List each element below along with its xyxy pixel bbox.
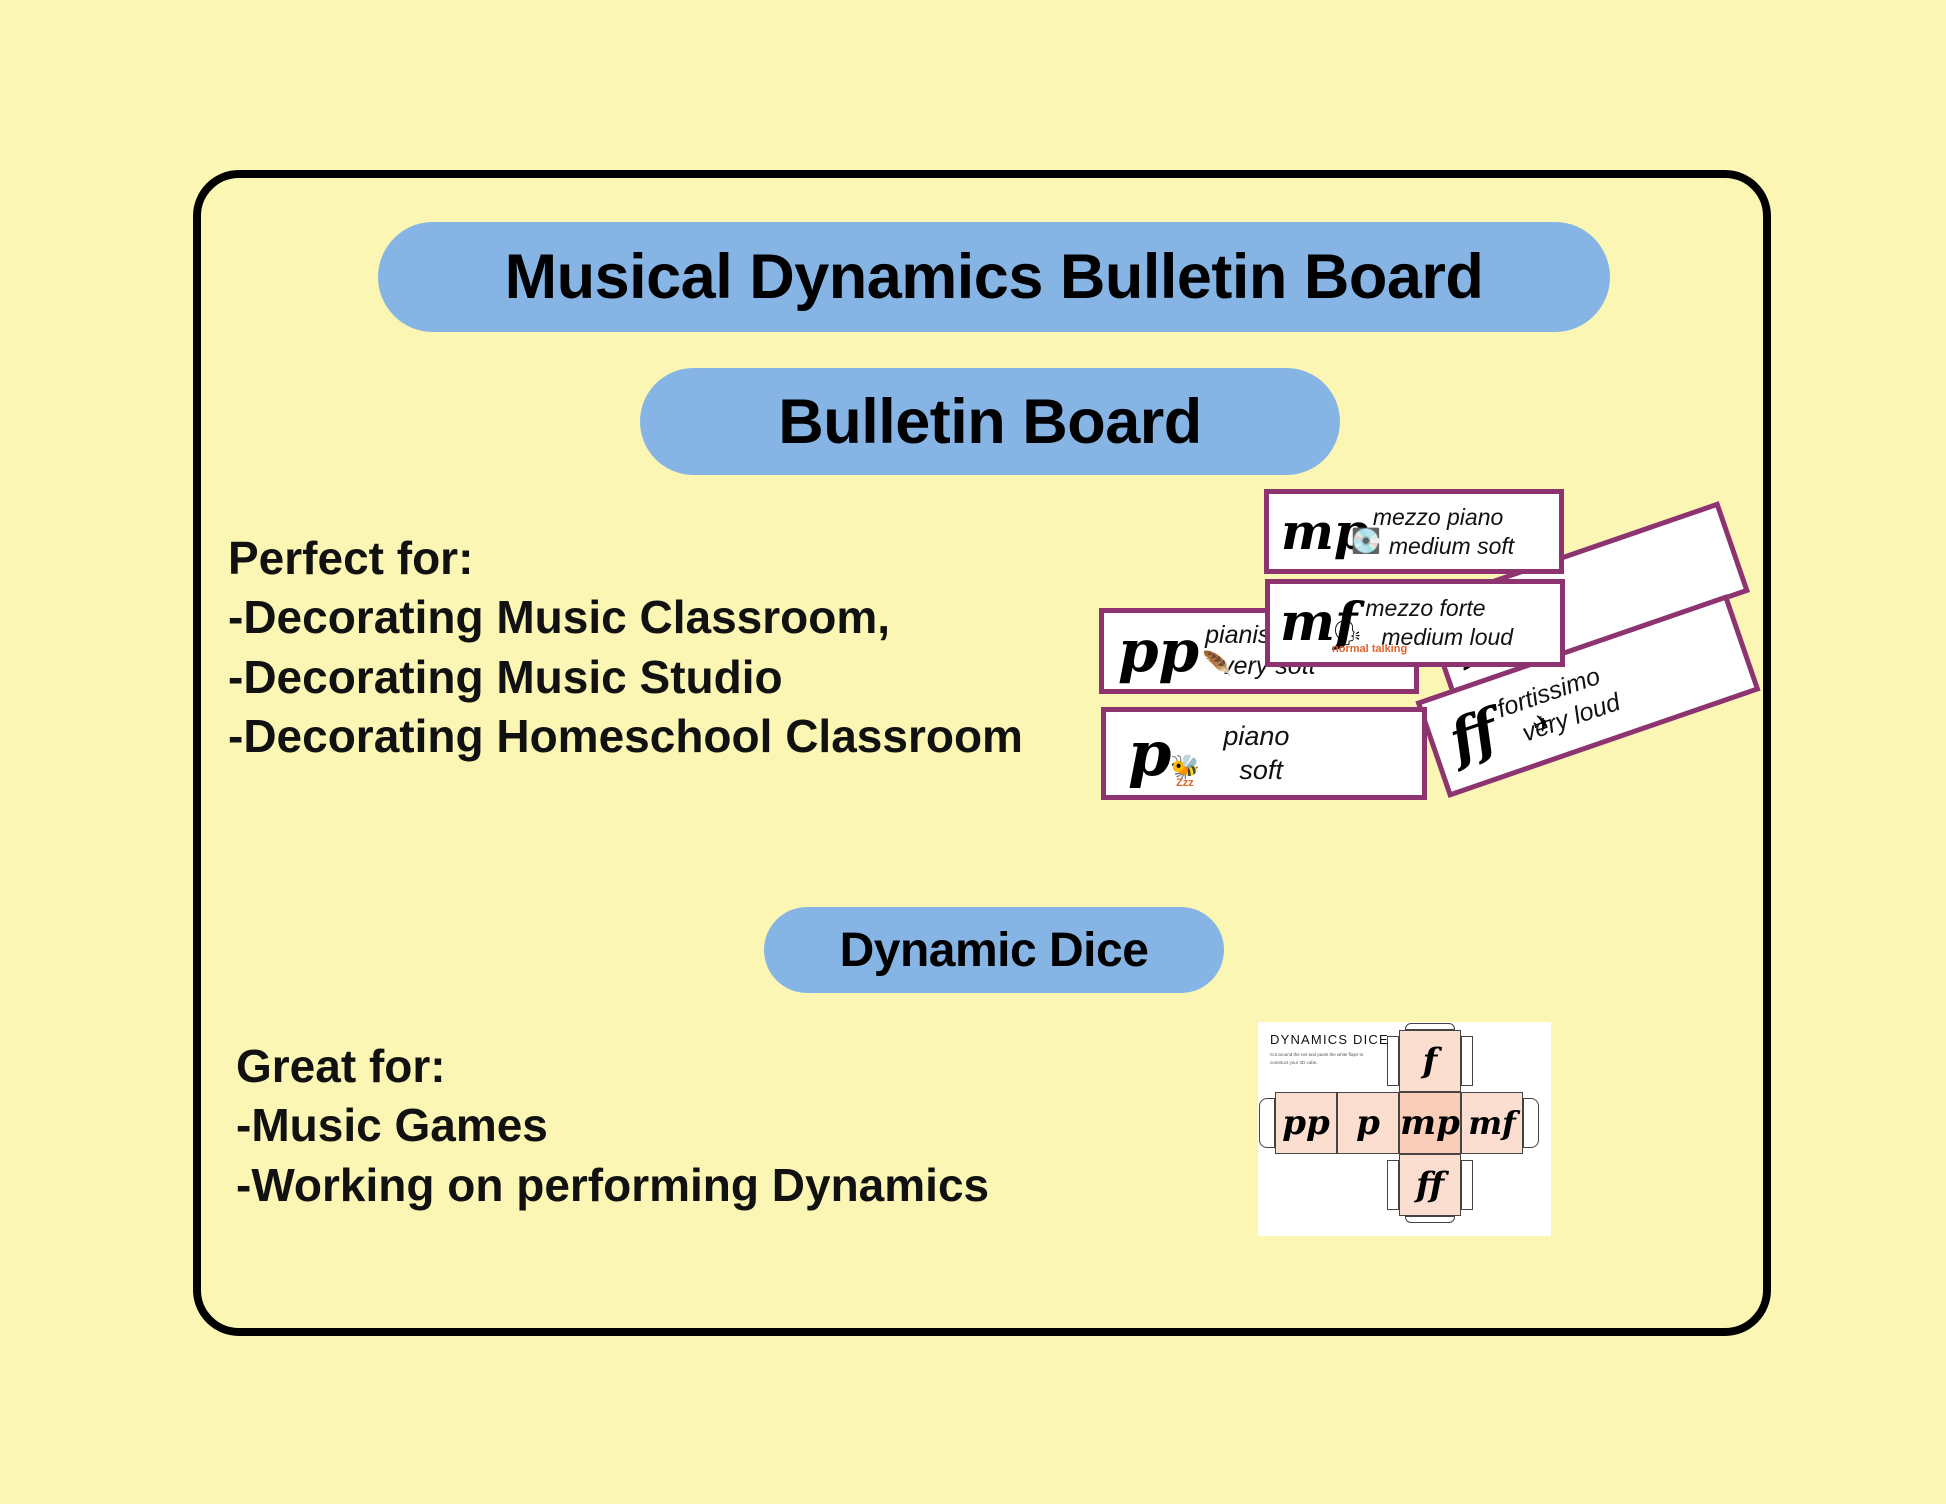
dice-face-piano: p: [1337, 1092, 1399, 1154]
dice-flap-left: [1259, 1098, 1275, 1148]
list-item: -Decorating Music Classroom,: [228, 588, 1023, 647]
dynamic-definition: mezzo piano medium soft: [1373, 503, 1514, 561]
dynamics-card-piano: p 🐝 Zzz piano soft: [1101, 707, 1427, 800]
perfect-for-block: Perfect for: -Decorating Music Classroom…: [228, 529, 1023, 766]
dynamics-cards-image: f orte loud ff ✈ fortissimo very loud pp…: [1105, 495, 1745, 885]
dynamic-definition: fortissimo very loud: [1493, 657, 1624, 754]
dice-face-forte: f: [1399, 1030, 1461, 1092]
section-title-bulletin-board: Bulletin Board: [778, 386, 1202, 458]
dice-face-mezzo-piano: mp: [1399, 1092, 1461, 1154]
dice-flap-top: [1405, 1023, 1455, 1030]
talking-heads-icon: 🗣 normal talking: [1332, 622, 1407, 655]
dice-net-instructions: Cut around the net and paste the white f…: [1270, 1051, 1380, 1067]
list-item: -Decorating Music Studio: [228, 648, 1023, 707]
list-item: -Decorating Homeschool Classroom: [228, 707, 1023, 766]
dynamic-symbol: pp: [1118, 625, 1199, 677]
dice-flap-top-left: [1387, 1036, 1399, 1086]
bulletin-board-section-pill: Bulletin Board: [640, 368, 1340, 475]
dice-face-fortissimo: ff: [1399, 1154, 1461, 1216]
feather-icon: 🪶: [1202, 653, 1232, 677]
list-item: -Working on performing Dynamics: [236, 1156, 989, 1215]
dice-flap-bottom: [1405, 1216, 1455, 1223]
dynamic-definition: piano soft: [1223, 720, 1289, 788]
dice-flap-right: [1523, 1098, 1539, 1148]
dynamic-symbol: ff: [1444, 704, 1504, 767]
great-for-heading: Great for:: [236, 1037, 989, 1096]
dice-face-mezzo-forte: mf: [1461, 1092, 1523, 1154]
electric-fan-icon: 💽: [1351, 530, 1381, 554]
dice-flap-bottom-left: [1387, 1160, 1399, 1210]
page-title: Musical Dynamics Bulletin Board: [505, 241, 1484, 313]
great-for-block: Great for: -Music Games -Working on perf…: [236, 1037, 989, 1215]
dynamic-symbol: p: [1128, 726, 1171, 782]
section-title-dynamic-dice: Dynamic Dice: [840, 923, 1149, 978]
dice-flap-top-right: [1461, 1036, 1473, 1086]
dice-face-pianissimo: pp: [1275, 1092, 1337, 1154]
poster-canvas: Musical Dynamics Bulletin Board Bulletin…: [0, 0, 1946, 1504]
dice-flap-bottom-right: [1461, 1160, 1473, 1210]
dice-net-title: DYNAMICS DICE: [1270, 1032, 1389, 1047]
list-item: -Music Games: [236, 1096, 989, 1155]
dynamics-dice-net-image: DYNAMICS DICE Cut around the net and pas…: [1258, 1022, 1551, 1236]
main-title-pill: Musical Dynamics Bulletin Board: [378, 222, 1610, 332]
perfect-for-heading: Perfect for:: [228, 529, 1023, 588]
dynamics-card-mezzo-piano: mp 💽 mezzo piano medium soft: [1264, 489, 1564, 574]
dynamic-dice-section-pill: Dynamic Dice: [764, 907, 1224, 993]
sleeping-bee-icon: 🐝 Zzz: [1170, 756, 1200, 789]
dynamics-card-mezzo-forte: mf 🗣 normal talking mezzo forte medium l…: [1265, 579, 1565, 667]
